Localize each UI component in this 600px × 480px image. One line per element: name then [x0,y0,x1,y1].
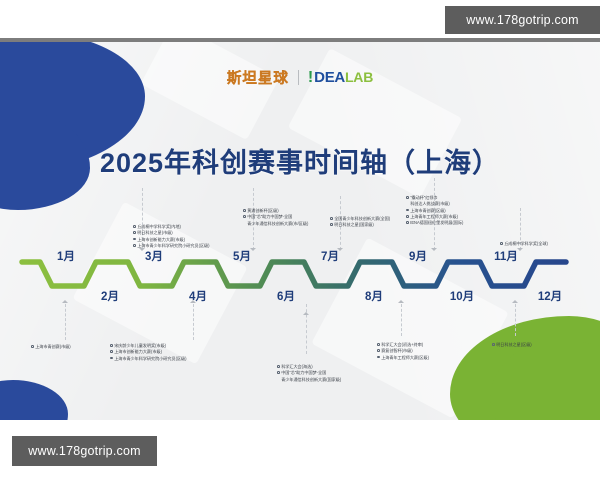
bullet-icon [330,217,333,220]
bullet-icon [406,209,409,212]
annotation-cluster-jan: 上海市青创赛(市级) [31,344,71,350]
month-marker-10: 10月 [450,288,474,304]
bullet-icon [377,343,380,346]
logo-divider [298,70,299,85]
bullet-icon [133,225,136,228]
tick-jan [62,300,68,303]
idealab-idea-text: DEA [314,69,345,86]
month-marker-5: 5月 [233,248,251,264]
bullet-icon [377,356,380,359]
month-marker-12: 12月 [538,288,562,304]
bullet-icon [243,209,246,212]
bullet-icon [133,231,136,234]
watermark-top: www.178gotrip.com [445,6,600,34]
annotation-cluster-oct: 科学汇大会(初选+终审) 赛复创智杯(市级) 上海青年工程师大赛(区级) [377,342,429,361]
bullet-icon [110,357,113,360]
bullet-icon [31,345,34,348]
annotation-item: IENA德国纽伦堡发明展(国际) [406,220,463,226]
bullet-icon [406,196,409,199]
annotation-text: 青少年通信科技创新大赛(国家级) [281,377,341,383]
bullet-icon [492,343,495,346]
tick-oct [398,300,404,303]
annotation-item: 上海市青少年科学研究院小研究员(区级) [110,356,187,362]
annotation-cluster-feb: 丘成桐中学科学奖(内地) 明日科技之星(市级) 上海市创新能力大赛(市级) 上海… [133,224,210,249]
month-labels: 1月 2月 3月 4月 5月 6月 7月 8月 9月 10月 11月 12月 [0,38,600,420]
tick-jul [303,312,309,315]
month-marker-8: 8月 [365,288,383,304]
screenshot-root: 斯坦星球 ! DEA LAB 2025年科创赛事时间轴（上海） [0,0,600,480]
annotation-item: 明日科技之星(区级) [492,342,532,348]
month-marker-6: 6月 [277,288,295,304]
bullet-icon [133,244,136,247]
annotation-item: 青少年通信科技创新大赛(国家级) [277,377,341,383]
stan-planet-logo: 斯坦星球 [227,67,289,88]
tick-dec-below [512,300,518,303]
annotation-item: 上海市青少年科学研究院小研究员(区级) [133,243,210,249]
annotation-cluster-jul: 科学汇大会(海选) 中国“芯”助力中国梦-全国 青少年通信科技创新大赛(国家级) [277,364,341,383]
bullet-icon [277,371,280,374]
tick-nov [431,248,437,251]
month-marker-2: 2月 [101,288,119,304]
watermark-strip [0,38,600,42]
idealab-exclamation-icon: ! [308,70,313,86]
poster-card: 斯坦星球 ! DEA LAB 2025年科创赛事时间轴（上海） [0,38,600,420]
annotation-cluster-nov: “撬动杯”红领巾 科创达人挑战赛(市级) 上海市青创赛(区级) 上海青年工程师大… [406,195,463,227]
annotation-cluster-dec-below: 明日科技之星(区级) [492,342,532,348]
annotation-item: 丘成桐中学科学奖(全球) [500,241,548,247]
annotation-item: 青少年通信科技创新大赛(市/区级) [243,221,308,227]
bullet-icon [500,242,503,245]
bullet-icon [110,350,113,353]
annotation-text: 明日科技之星(区级) [496,342,531,348]
annotation-text: 上海市青创赛(市级) [35,344,70,350]
watermark-bottom: www.178gotrip.com [12,436,157,466]
annotation-item: 上海青年工程师大赛(区级) [377,355,429,361]
annotation-text: 丘成桐中学科学奖(全球) [504,241,548,247]
annotation-cluster-jun: 黄浦创新杯(区级) 中国“芯”助力中国梦-全国 青少年通信科技创新大赛(市/区级… [243,208,308,227]
bullet-icon [243,215,246,218]
bullet-icon [277,365,280,368]
annotation-cluster-dec: 丘成桐中学科学奖(全球) [500,241,548,247]
annotation-text: 上海市青少年科学研究院小研究员(区级) [114,356,186,362]
month-marker-3: 3月 [145,248,163,264]
annotation-cluster-aug: 全国青少年科技创新大赛(全国) 明日科技之星(国家级) [330,216,390,229]
month-marker-1: 1月 [57,248,75,264]
tick-mar [190,300,196,303]
annotation-cluster-mar: 宋庆龄少年儿童发明奖(市级) 上海市创新能力大赛(市级) 上海市青少年科学研究院… [110,343,187,362]
tick-aug [337,248,343,251]
annotation-item: 上海市青创赛(市级) [31,344,71,350]
bullet-icon [406,215,409,218]
bullet-icon [330,223,333,226]
idealab-logo: ! DEA LAB [308,69,373,86]
annotation-text: IENA德国纽伦堡发明展(国际) [410,220,463,226]
annotation-text: 青少年通信科技创新大赛(市/区级) [247,221,308,227]
brand-logo-bar: 斯坦星球 ! DEA LAB [0,67,600,88]
timeline-graphic: 1月 2月 3月 4月 5月 6月 7月 8月 9月 10月 11月 12月 [0,38,600,420]
month-marker-11: 11月 [494,248,518,264]
bullet-icon [406,221,409,224]
annotation-item: 明日科技之星(国家级) [330,222,390,228]
idealab-lab-text: LAB [345,69,373,85]
bullet-icon [377,349,380,352]
tick-dec [517,248,523,251]
annotation-text: 上海市青少年科学研究院小研究员(区级) [137,243,209,249]
tick-jun [250,248,256,251]
page-title: 2025年科创赛事时间轴（上海） [0,141,600,180]
bullet-icon [110,344,113,347]
month-marker-9: 9月 [409,248,427,264]
annotation-text: 明日科技之星(国家级) [334,222,374,228]
annotation-text: 上海青年工程师大赛(区级) [381,355,429,361]
bullet-icon [133,238,136,241]
